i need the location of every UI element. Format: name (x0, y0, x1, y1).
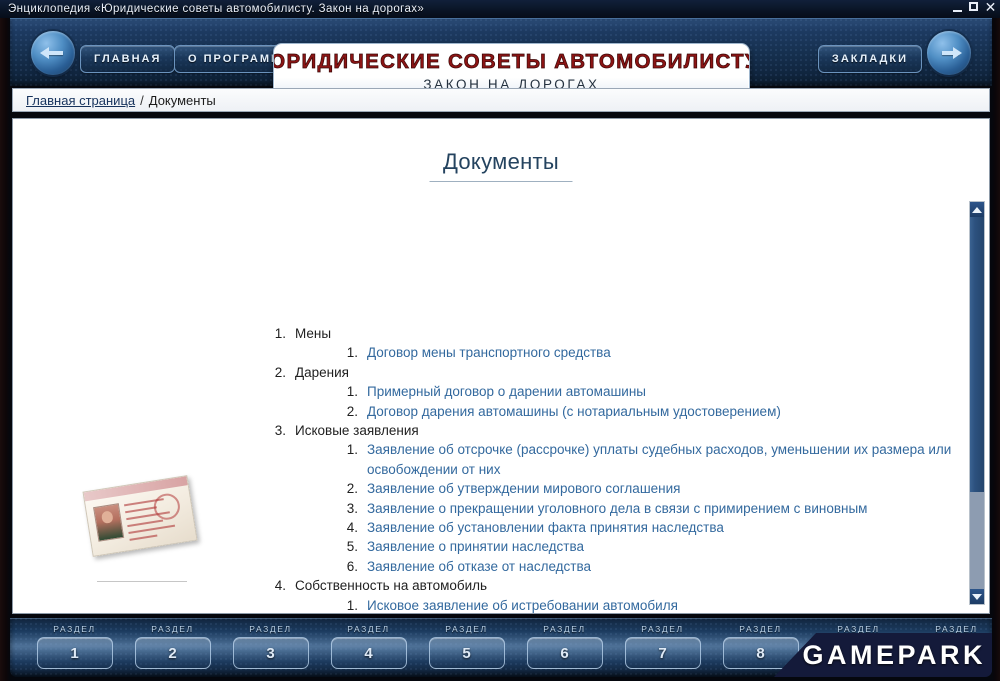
outline-subitem: 1.Договор мены транспортного средства (332, 343, 953, 362)
section-number[interactable]: 4 (331, 637, 407, 669)
content-area: Документы 1.Мены1.Договор мены транспорт… (12, 118, 990, 614)
section-number[interactable]: 6 (527, 637, 603, 669)
section-caption: РАЗДЕЛ (249, 624, 291, 634)
close-icon[interactable]: ✕ (984, 1, 997, 14)
licence-card (82, 475, 197, 557)
licence-caption-divider (97, 581, 187, 582)
outline-subitem-number: 1. (332, 440, 367, 459)
outline-subitem-number: 5. (332, 537, 367, 556)
outline-item-number: 3. (261, 421, 295, 440)
home-button-label: ГЛАВНАЯ (94, 53, 161, 65)
outline-subitem-number: 4. (332, 518, 367, 537)
licence-text-line (125, 506, 157, 513)
outline-item-body: Дарения1.Примерный договор о дарении авт… (295, 363, 953, 421)
forward-button[interactable] (927, 31, 971, 75)
section-button-4[interactable]: РАЗДЕЛ4 (320, 618, 417, 669)
licence-text-line (129, 535, 157, 541)
outline-item-label: Исковые заявления (295, 421, 953, 440)
arrow-left-icon (40, 46, 66, 60)
section-caption: РАЗДЕЛ (151, 624, 193, 634)
outline-subitem-number: 3. (332, 499, 367, 518)
outline-item-number: 4. (261, 576, 295, 595)
banner-title: ЮРИДИЧЕСКИЕ СОВЕТЫ АВТОМОБИЛИСТУ (273, 52, 750, 73)
scrollbar-track-lower[interactable] (970, 492, 984, 589)
section-number[interactable]: 3 (233, 637, 309, 669)
breadcrumb-current: Документы (149, 93, 216, 108)
documents-outline: 1.Мены1.Договор мены транспортного средс… (261, 324, 953, 614)
document-link[interactable]: Заявление об отсрочке (рассрочке) уплаты… (367, 440, 953, 479)
outline-item: 1.Мены1.Договор мены транспортного средс… (261, 324, 953, 363)
outline-item: 4.Собственность на автомобиль1.Исковое з… (261, 576, 953, 614)
outline-item: 2.Дарения1.Примерный договор о дарении а… (261, 363, 953, 421)
back-button[interactable] (31, 31, 75, 75)
outline-item-label: Мены (295, 324, 953, 343)
section-button-3[interactable]: РАЗДЕЛ3 (222, 618, 319, 669)
licence-stamp (152, 492, 182, 522)
window-frame-left (0, 18, 10, 681)
section-number[interactable]: 7 (625, 637, 701, 669)
outline-subitem: 1.Исковое заявление об истребовании авто… (332, 596, 953, 614)
outline-subitem-number: 1. (332, 382, 367, 401)
triangle-down-icon (972, 594, 982, 600)
section-caption: РАЗДЕЛ (837, 624, 879, 634)
bookmarks-button[interactable]: ЗАКЛАДКИ (818, 45, 922, 73)
outline-level-2: 1.Исковое заявление об истребовании авто… (295, 596, 953, 614)
section-number[interactable]: 2 (135, 637, 211, 669)
page-title: Документы (13, 149, 989, 175)
triangle-up-icon (972, 207, 982, 213)
outline-subitem-number: 6. (332, 557, 367, 576)
content-scrollbar[interactable] (969, 201, 985, 605)
scroll-down-button[interactable] (970, 589, 984, 604)
document-link[interactable]: Исковое заявление об истребовании автомо… (367, 596, 953, 614)
section-button-1[interactable]: РАЗДЕЛ1 (26, 618, 123, 669)
outline-item: 3.Исковые заявления1.Заявление об отсроч… (261, 421, 953, 576)
section-caption: РАЗДЕЛ (347, 624, 389, 634)
outline-subitem: 1.Заявление об отсрочке (рассрочке) упла… (332, 440, 953, 479)
section-number[interactable]: 5 (429, 637, 505, 669)
section-number[interactable]: 1 (37, 637, 113, 669)
outline-subitem-number: 1. (332, 343, 367, 362)
outline-subitem-number: 1. (332, 596, 367, 614)
breadcrumb-separator: / (140, 93, 144, 108)
drivers-licence-image (81, 477, 199, 559)
maximize-icon[interactable] (968, 1, 981, 14)
licence-portrait-head (101, 510, 114, 524)
outline-subitem: 2.Заявление об утверждении мирового согл… (332, 479, 953, 498)
scrollbar-thumb[interactable] (970, 217, 984, 492)
outline-subitem: 2.Договор дарения автомашины (с нотариал… (332, 402, 953, 421)
bookmarks-button-label: ЗАКЛАДКИ (832, 53, 908, 65)
document-link[interactable]: Заявление об утверждении мирового соглаш… (367, 479, 953, 498)
document-link[interactable]: Заявление об установлении факта принятия… (367, 518, 953, 537)
breadcrumb: Главная страница / Документы (12, 88, 990, 112)
scroll-up-button[interactable] (970, 202, 984, 217)
outline-level-1: 1.Мены1.Договор мены транспортного средс… (261, 324, 953, 614)
outline-subitem-number: 2. (332, 402, 367, 421)
arrow-right-icon (936, 46, 962, 60)
window-controls: ✕ (952, 1, 997, 14)
outline-item-number: 1. (261, 324, 295, 343)
licence-photo (93, 503, 124, 542)
section-caption: РАЗДЕЛ (445, 624, 487, 634)
outline-level-2: 1.Примерный договор о дарении автомашины… (295, 382, 953, 421)
outline-item-body: Исковые заявления1.Заявление об отсрочке… (295, 421, 953, 576)
title-divider (430, 181, 573, 182)
section-button-5[interactable]: РАЗДЕЛ5 (418, 618, 515, 669)
section-button-2[interactable]: РАЗДЕЛ2 (124, 618, 221, 669)
document-link[interactable]: Заявление о принятии наследства (367, 537, 953, 556)
window-title: Энциклопедия «Юридические советы автомоб… (0, 3, 424, 15)
section-caption: РАЗДЕЛ (543, 624, 585, 634)
licence-text-line (128, 525, 175, 534)
outline-subitem-number: 2. (332, 479, 367, 498)
document-link[interactable]: Договор дарения автомашины (с нотариальн… (367, 402, 953, 421)
outline-item-label: Дарения (295, 363, 953, 382)
section-caption: РАЗДЕЛ (739, 624, 781, 634)
minimize-icon[interactable] (952, 1, 965, 14)
document-link[interactable]: Заявление о прекращении уголовного дела … (367, 499, 953, 518)
section-caption: РАЗДЕЛ (935, 624, 977, 634)
outline-subitem: 1.Примерный договор о дарении автомашины (332, 382, 953, 401)
outline-item-number: 2. (261, 363, 295, 382)
title-bar: Энциклопедия «Юридические советы автомоб… (0, 0, 1000, 18)
outline-subitem: 5.Заявление о принятии наследства (332, 537, 953, 556)
outline-subitem: 6.Заявление об отказе от наследства (332, 557, 953, 576)
licence-text-line (127, 519, 163, 527)
breadcrumb-home-link[interactable]: Главная страница (26, 93, 135, 108)
home-button[interactable]: ГЛАВНАЯ (80, 45, 175, 73)
outline-subitem: 3.Заявление о прекращении уголовного дел… (332, 499, 953, 518)
app-header: ГЛАВНАЯ О ПРОГРАММЕ ЮРИДИЧЕСКИЕ СОВЕТЫ А… (10, 18, 992, 86)
section-button-6[interactable]: РАЗДЕЛ6 (516, 618, 613, 669)
window-frame-right (992, 18, 1000, 681)
outline-item-body: Собственность на автомобиль1.Исковое зая… (295, 576, 953, 614)
gamepark-logo-text: GAMEPARK (802, 642, 986, 669)
app-footer: РАЗДЕЛ1РАЗДЕЛ2РАЗДЕЛ3РАЗДЕЛ4РАЗДЕЛ5РАЗДЕ… (10, 618, 992, 677)
outline-item-label: Собственность на автомобиль (295, 576, 953, 595)
section-caption: РАЗДЕЛ (641, 624, 683, 634)
section-caption: РАЗДЕЛ (53, 624, 95, 634)
outline-item-body: Мены1.Договор мены транспортного средств… (295, 324, 953, 363)
outline-level-2: 1.Заявление об отсрочке (рассрочке) упла… (295, 440, 953, 576)
document-link[interactable]: Примерный договор о дарении автомашины (367, 382, 953, 401)
document-link[interactable]: Заявление об отказе от наследства (367, 557, 953, 576)
section-button-7[interactable]: РАЗДЕЛ7 (614, 618, 711, 669)
document-link[interactable]: Договор мены транспортного средства (367, 343, 953, 362)
outline-subitem: 4.Заявление об установлении факта принят… (332, 518, 953, 537)
outline-level-2: 1.Договор мены транспортного средства (295, 343, 953, 362)
application-window: Энциклопедия «Юридические советы автомоб… (0, 0, 1000, 681)
